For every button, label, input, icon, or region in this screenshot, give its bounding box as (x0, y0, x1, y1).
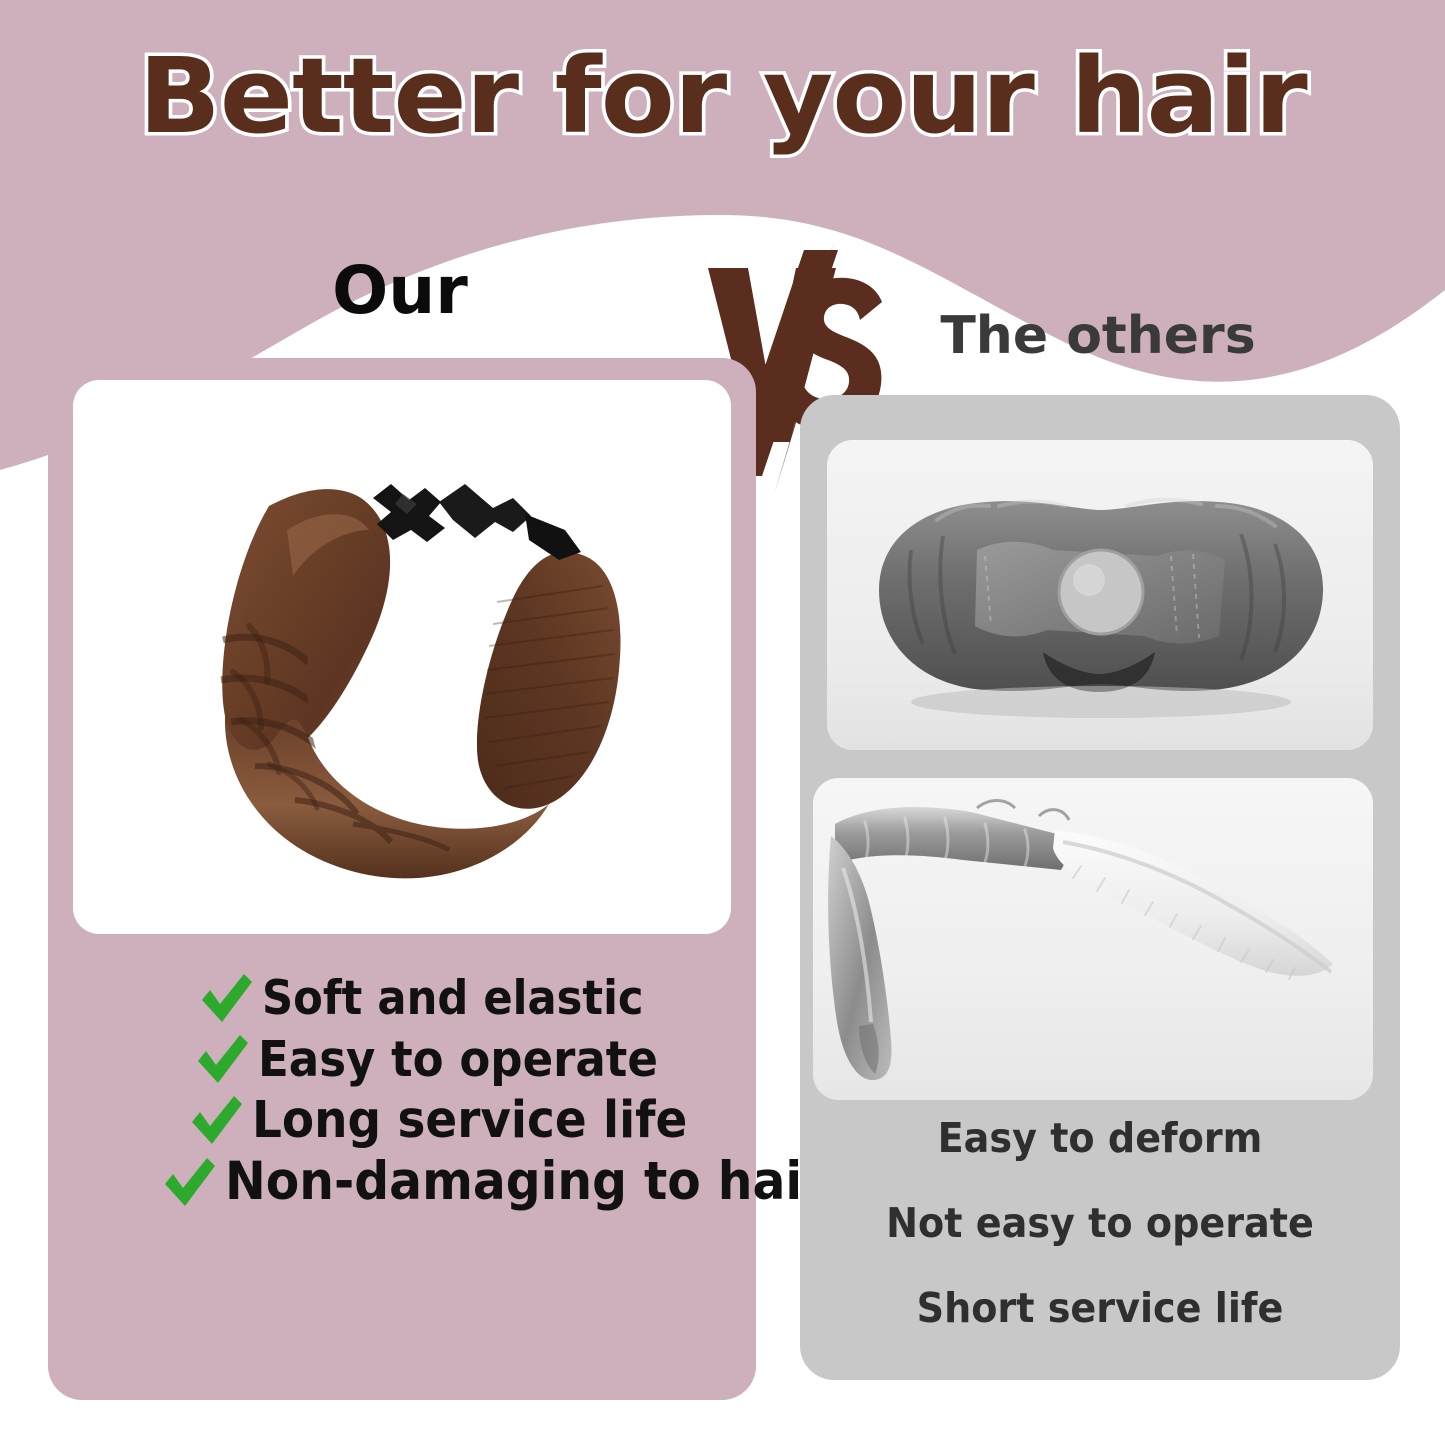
others-panel: Easy to deform Not easy to operate Short… (800, 395, 1400, 1380)
clip-connector (373, 484, 581, 560)
benefit-label: Easy to operate (258, 1035, 658, 1084)
our-product-card (73, 380, 731, 934)
benefit-list: Soft and elastic Easy to operate Long se… (48, 972, 756, 1217)
comparison-infographic: Better for your hair Our The others (0, 0, 1445, 1445)
benefit-label: Non-damaging to hair (225, 1155, 826, 1208)
others-product-card-1 (827, 440, 1373, 750)
check-icon (161, 1156, 217, 1208)
column-heading-our: Our (250, 258, 550, 324)
check-icon (188, 1094, 244, 1146)
benefit-label: Long service life (252, 1095, 687, 1146)
our-product-image (73, 380, 731, 934)
drawback-label: Short service life (821, 1288, 1379, 1329)
benefit-item: Non-damaging to hair (48, 1155, 756, 1208)
drawback-list: Easy to deform Not easy to operate Short… (800, 1118, 1400, 1373)
drawback-label: Not easy to operate (821, 1203, 1379, 1244)
page-title: Better for your hair (0, 44, 1445, 148)
drawback-label: Easy to deform (821, 1118, 1379, 1159)
check-icon (198, 972, 254, 1024)
column-heading-others: The others (898, 310, 1298, 362)
benefit-item: Soft and elastic (48, 972, 756, 1024)
others-product-card-2 (813, 778, 1373, 1100)
our-panel: Soft and elastic Easy to operate Long se… (48, 358, 756, 1400)
benefit-item: Long service life (48, 1094, 756, 1146)
others-product-image-1 (827, 440, 1373, 750)
others-product-image-2 (813, 778, 1373, 1100)
benefit-item: Easy to operate (48, 1033, 756, 1085)
check-icon (194, 1033, 250, 1085)
benefit-label: Soft and elastic (262, 975, 644, 1022)
